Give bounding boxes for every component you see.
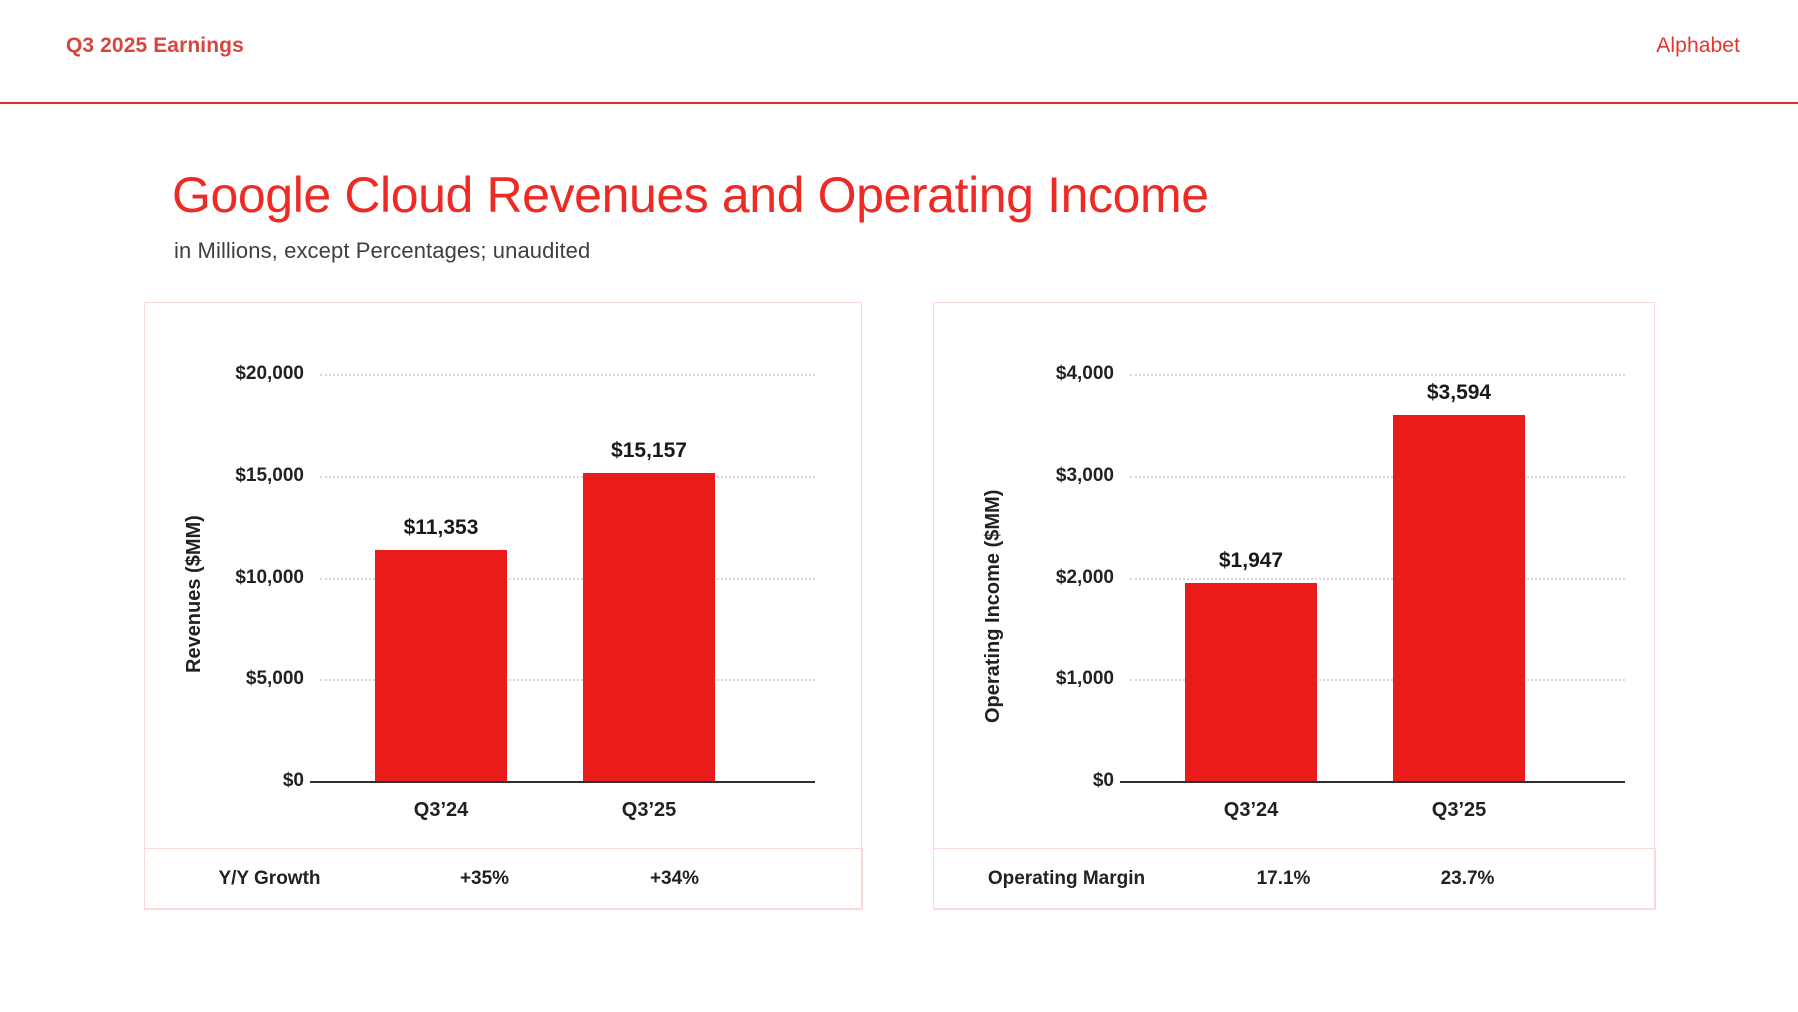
footer-row-yy-growth: Y/Y Growth +35% +34% [144,848,863,910]
chart-card-operating-income: Operating Income ($MM)$0$1,000$2,000$3,0… [933,302,1655,909]
chart-plot-revenues: Revenues ($MM)$0$5,000$10,000$15,000$20,… [145,303,861,863]
gridline [320,476,815,478]
footer-value-q325: +34% [575,868,775,890]
bar-value-label: $1,947 [1219,549,1283,573]
x-axis-category-label: Q3’25 [1432,799,1486,822]
bar-value-label: $11,353 [404,516,479,540]
footer-row-operating-margin: Operating Margin 17.1% 23.7% [933,848,1656,910]
gridline [1130,578,1625,580]
footer-label: Operating Margin [934,868,1200,890]
bar-value-label: $15,157 [611,439,687,463]
y-axis-tick-label: $10,000 [164,567,304,589]
top-bar: Q3 2025 Earnings Alphabet [0,0,1798,104]
bar-revenues-0[interactable] [375,550,507,781]
footer-label: Y/Y Growth [145,868,395,890]
footer-value-q324: 17.1% [1200,868,1368,890]
y-axis-tick-label: $20,000 [164,363,304,385]
y-axis-title: Revenues ($MM) [183,515,206,673]
y-axis-tick-label: $4,000 [974,363,1114,385]
deck-label: Q3 2025 Earnings [66,34,244,58]
footer-value-q325: 23.7% [1368,868,1568,890]
footer-value-q324: +35% [395,868,575,890]
y-axis-tick-label: $5,000 [164,668,304,690]
company-label: Alphabet [1656,34,1740,58]
x-axis-line [1120,781,1625,783]
gridline [1130,476,1625,478]
chart-plot-operating-income: Operating Income ($MM)$0$1,000$2,000$3,0… [934,303,1654,863]
page-title: Google Cloud Revenues and Operating Inco… [172,168,1209,223]
y-axis-tick-label: $0 [974,770,1114,792]
x-axis-category-label: Q3’24 [1224,799,1278,822]
y-axis-tick-label: $1,000 [974,668,1114,690]
gridline [1130,374,1625,376]
y-axis-tick-label: $3,000 [974,465,1114,487]
gridline [320,374,815,376]
bar-value-label: $3,594 [1427,381,1491,405]
y-axis-tick-label: $0 [164,770,304,792]
bar-operating-income-0[interactable] [1185,583,1317,781]
slide: Q3 2025 Earnings Alphabet Google Cloud R… [0,0,1798,1012]
y-axis-tick-label: $2,000 [974,567,1114,589]
y-axis-tick-label: $15,000 [164,465,304,487]
chart-card-revenues: Revenues ($MM)$0$5,000$10,000$15,000$20,… [144,302,862,909]
x-axis-category-label: Q3’25 [622,799,676,822]
x-axis-line [310,781,815,783]
bar-revenues-1[interactable] [583,473,715,781]
bar-operating-income-1[interactable] [1393,415,1525,781]
x-axis-category-label: Q3’24 [414,799,468,822]
page-subtitle: in Millions, except Percentages; unaudit… [174,238,590,264]
